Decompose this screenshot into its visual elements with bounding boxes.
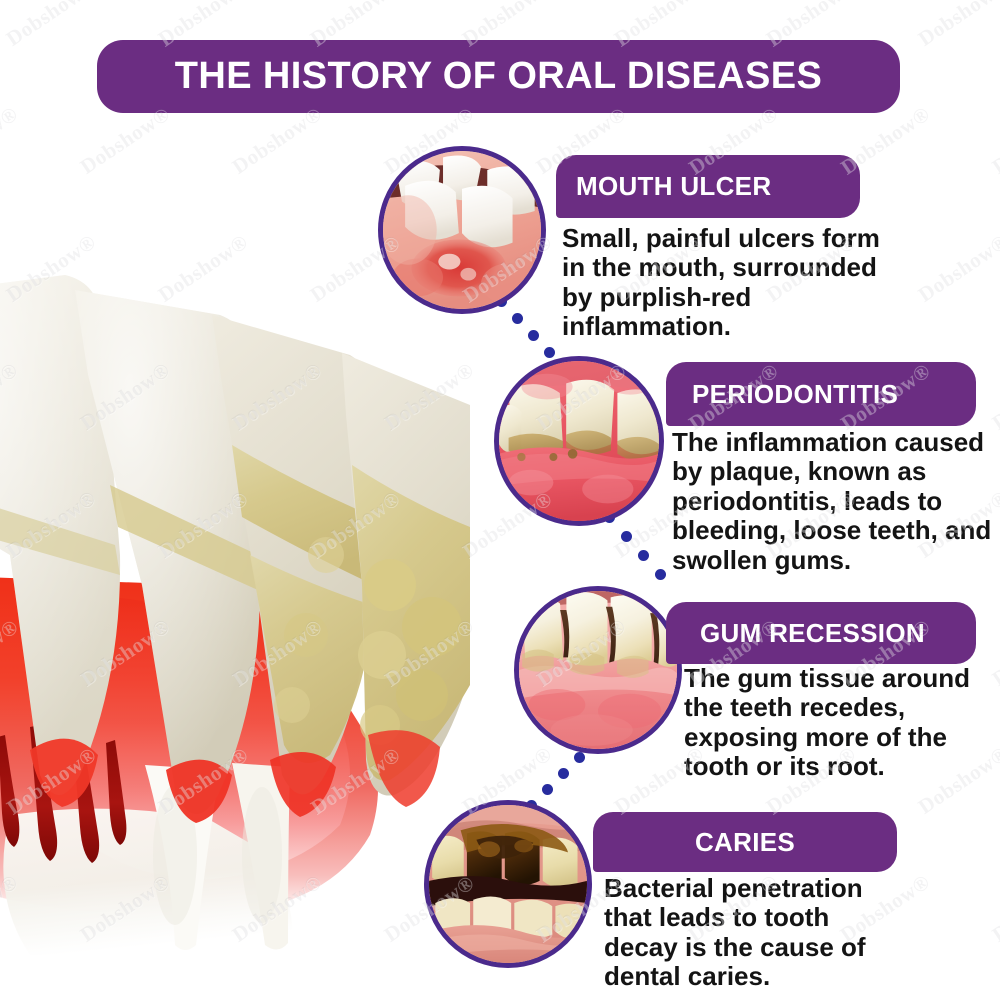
label-mouth-ulcer: MOUTH ULCER bbox=[556, 155, 860, 218]
mouth-ulcer-photo bbox=[378, 146, 546, 314]
gum-recession-photo bbox=[514, 586, 682, 754]
page-title-banner: THE HISTORY OF ORAL DISEASES bbox=[97, 40, 900, 113]
watermark-text: Dobshow® bbox=[988, 869, 1000, 947]
label-gum-recession-text: GUM RECESSION bbox=[700, 618, 976, 649]
watermark-text: Dobshow® bbox=[2, 0, 101, 52]
description-periodontitis: The inflammation caused by plaque, known… bbox=[672, 428, 992, 575]
caries-photo bbox=[424, 800, 592, 968]
label-mouth-ulcer-text: MOUTH ULCER bbox=[576, 171, 860, 202]
periodontitis-photo bbox=[494, 356, 664, 526]
watermark-text: Dobshow® bbox=[228, 101, 327, 179]
description-gum-recession: The gum tissue around the teeth recedes,… bbox=[684, 664, 996, 782]
watermark-text: Dobshow® bbox=[76, 101, 175, 179]
description-mouth-ulcer: Small, painful ulcers form in the mouth,… bbox=[562, 224, 910, 342]
page-title: THE HISTORY OF ORAL DISEASES bbox=[175, 55, 822, 98]
watermark-text: Dobshow® bbox=[0, 101, 23, 179]
label-gum-recession: GUM RECESSION bbox=[666, 602, 976, 664]
watermark-text: Dobshow® bbox=[988, 357, 1000, 435]
label-periodontitis-text: PERIODONTITIS bbox=[692, 379, 976, 410]
connector-dots-1 bbox=[496, 296, 566, 362]
description-caries: Bacterial penetration that leads to toot… bbox=[604, 874, 904, 992]
watermark-text: Dobshow® bbox=[914, 0, 1000, 52]
diseased-teeth-illustration bbox=[0, 255, 470, 955]
label-caries-text: CARIES bbox=[593, 827, 897, 858]
watermark-text: Dobshow® bbox=[914, 229, 1000, 307]
label-caries: CARIES bbox=[593, 812, 897, 872]
infographic-canvas: MOUTH ULCER Small, painful ulcers form i… bbox=[0, 0, 1000, 1000]
watermark-text: Dobshow® bbox=[988, 101, 1000, 179]
label-periodontitis: PERIODONTITIS bbox=[666, 362, 976, 426]
connector-dots-2 bbox=[604, 512, 674, 584]
